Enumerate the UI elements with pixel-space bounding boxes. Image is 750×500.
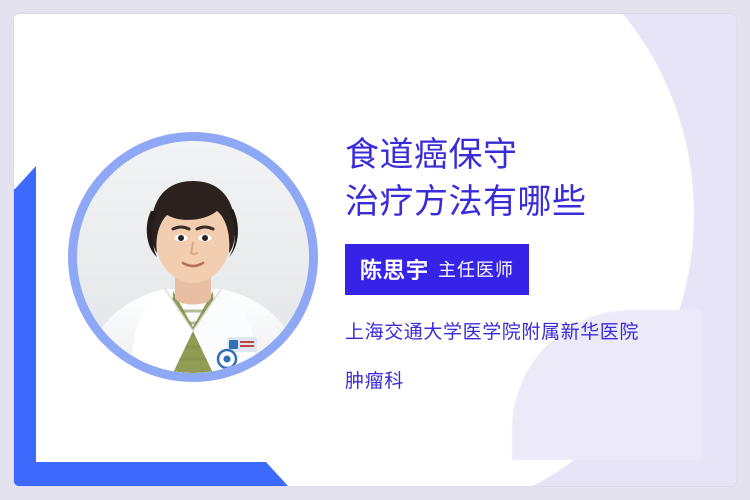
blue-left-strip xyxy=(14,189,36,486)
blue-bottom-bar-tip xyxy=(266,462,288,486)
headline-title: 食道癌保守 治疗方法有哪些 xyxy=(345,132,715,226)
blue-bottom-bar xyxy=(14,462,266,486)
doctor-title: 主任医师 xyxy=(438,260,514,280)
doctor-portrait-frame xyxy=(77,141,309,373)
card-surface: 食道癌保守 治疗方法有哪些 陈思宇主任医师 上海交通大学医学院附属新华医院 肿瘤… xyxy=(14,14,736,486)
blue-left-strip-tip xyxy=(14,166,36,190)
promo-card-canvas: 食道癌保守 治疗方法有哪些 陈思宇主任医师 上海交通大学医学院附属新华医院 肿瘤… xyxy=(0,0,750,500)
doctor-affiliation: 上海交通大学医学院附属新华医院 xyxy=(345,317,715,344)
doctor-portrait-ring xyxy=(68,132,318,382)
doctor-portrait-photo xyxy=(77,141,309,373)
doctor-name: 陈思宇 xyxy=(360,258,429,283)
doctor-department: 肿瘤科 xyxy=(345,366,715,393)
doctor-name-badge: 陈思宇主任医师 xyxy=(345,244,529,295)
text-column: 食道癌保守 治疗方法有哪些 陈思宇主任医师 上海交通大学医学院附属新华医院 肿瘤… xyxy=(345,132,715,393)
